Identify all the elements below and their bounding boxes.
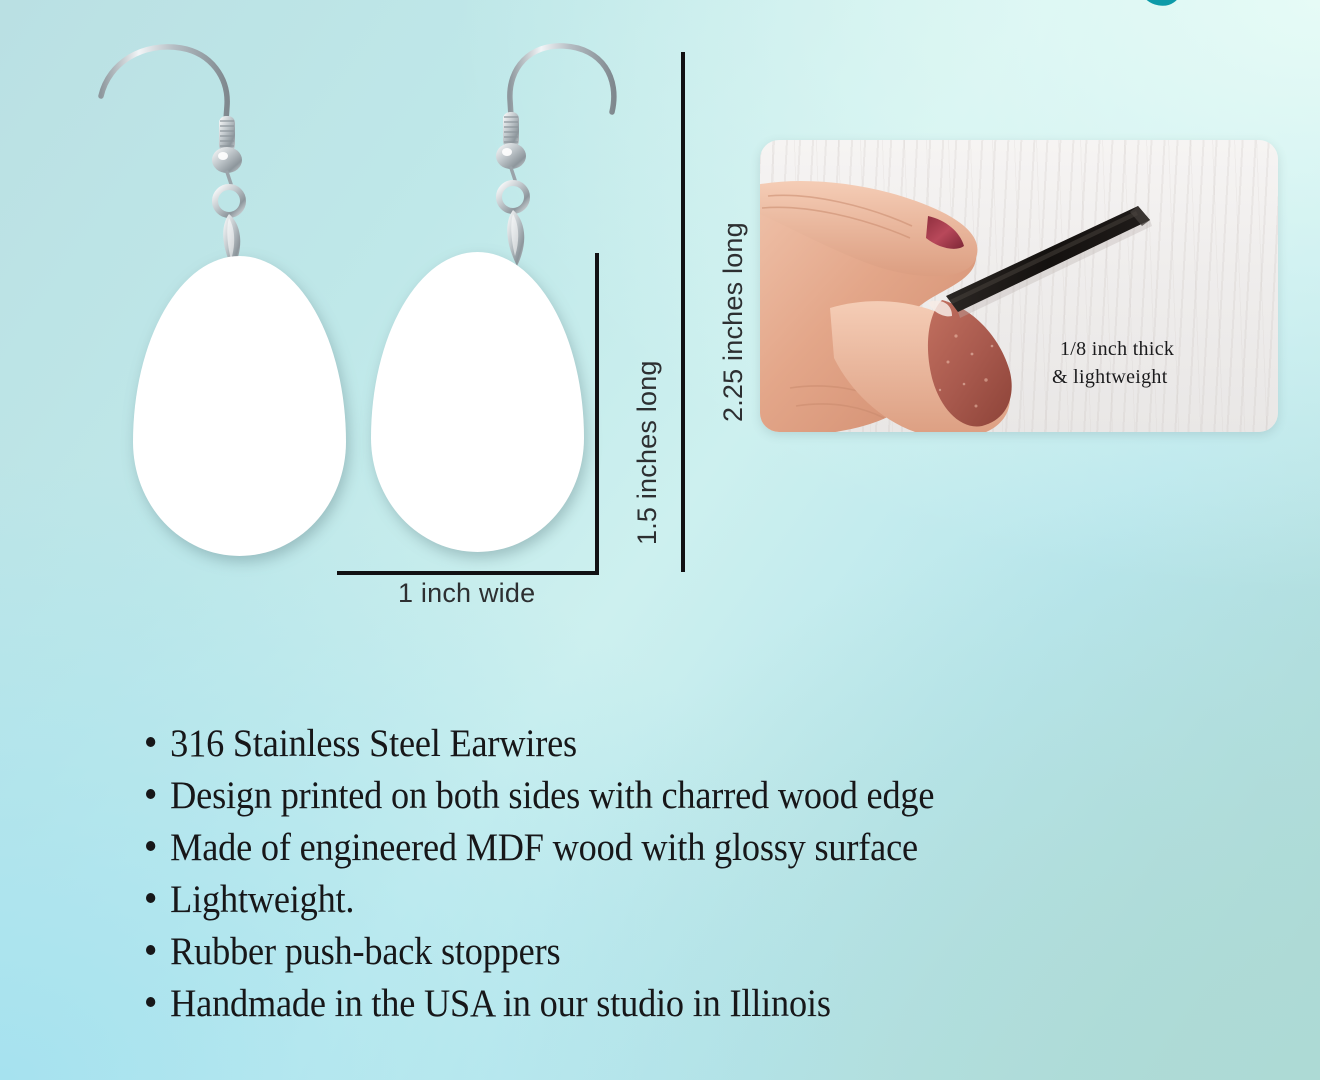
feature-text: Lightweight. bbox=[170, 874, 354, 926]
thickness-text-line-2: & lightweight bbox=[1052, 366, 1168, 389]
bullet-icon bbox=[146, 945, 155, 955]
dimension-label-drop-height: 1.5 inches long bbox=[632, 360, 663, 545]
list-item: Design printed on both sides with charre… bbox=[146, 770, 1113, 822]
feature-text: Made of engineered MDF wood with glossy … bbox=[170, 822, 918, 874]
thickness-text-line-1: 1/8 inch thick bbox=[1060, 338, 1174, 361]
dimension-label-overall-height: 2.25 inches long bbox=[718, 222, 749, 422]
feature-text: Handmade in the USA in our studio in Ill… bbox=[170, 978, 831, 1030]
bullet-icon bbox=[146, 841, 155, 851]
thickness-photo-card: 1/8 inch thick & lightweight bbox=[760, 140, 1278, 432]
list-item: Rubber push-back stoppers bbox=[146, 926, 1113, 978]
bullet-icon bbox=[146, 997, 155, 1007]
list-item: 316 Stainless Steel Earwires bbox=[146, 718, 1113, 770]
feature-text: Rubber push-back stoppers bbox=[170, 926, 560, 978]
dimension-line-width bbox=[337, 571, 599, 575]
hand-holding-strip-photo bbox=[760, 140, 1278, 432]
dimension-line-overall-height bbox=[681, 52, 685, 572]
bullet-icon bbox=[146, 893, 155, 903]
feature-list: 316 Stainless Steel Earwires Design prin… bbox=[146, 718, 1186, 1030]
list-item: Handmade in the USA in our studio in Ill… bbox=[146, 978, 1113, 1030]
list-item: Made of engineered MDF wood with glossy … bbox=[146, 822, 1113, 874]
dimension-label-width: 1 inch wide bbox=[398, 578, 535, 609]
feature-text: Design printed on both sides with charre… bbox=[170, 770, 934, 822]
dimension-line-drop-height bbox=[595, 253, 599, 575]
brand-logo-swoosh-icon bbox=[1138, 0, 1182, 18]
bullet-icon bbox=[146, 789, 155, 799]
list-item: Lightweight. bbox=[146, 874, 1113, 926]
feature-text: 316 Stainless Steel Earwires bbox=[170, 718, 577, 770]
bullet-icon bbox=[146, 737, 155, 747]
